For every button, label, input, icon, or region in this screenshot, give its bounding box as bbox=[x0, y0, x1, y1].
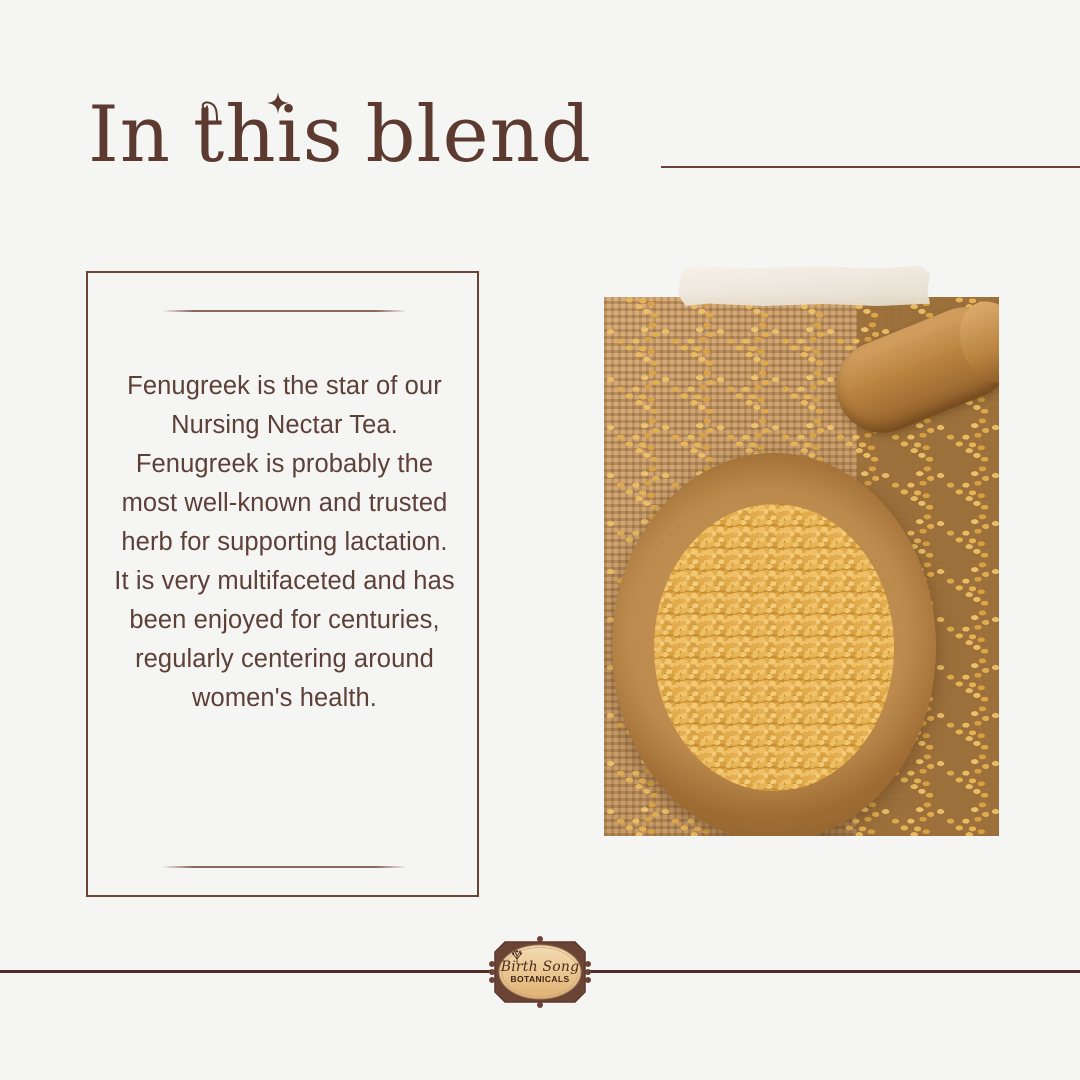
body-paragraph: Fenugreek is the star of our Nursing Nec… bbox=[112, 367, 457, 718]
title-part-second: this bbox=[193, 96, 344, 174]
photo-fenugreek-seeds bbox=[654, 504, 894, 791]
brand-logo[interactable]: Birth Song BOTANICALS bbox=[487, 934, 593, 1010]
title-part-third: blend bbox=[366, 96, 592, 174]
footer-rule-left bbox=[0, 970, 502, 973]
title-horizontal-rule bbox=[661, 166, 1080, 168]
photo-mortar-bowl bbox=[612, 453, 936, 836]
paper-tape-strip bbox=[678, 266, 930, 306]
fenugreek-photo bbox=[604, 297, 999, 836]
content-card: Fenugreek is the star of our Nursing Nec… bbox=[86, 271, 479, 897]
page-title: In this blend bbox=[88, 96, 592, 174]
card-top-divider bbox=[164, 310, 405, 312]
logo-badge-shape bbox=[487, 934, 593, 1010]
footer-rule-right bbox=[578, 970, 1080, 973]
poster-canvas: In this blend Fenugreek is the star of o… bbox=[0, 0, 1080, 1080]
title-part-second-text: this bbox=[193, 90, 344, 180]
photo-mortar-interior bbox=[654, 504, 894, 791]
card-bottom-divider bbox=[164, 866, 405, 868]
title-part-first: In bbox=[88, 96, 171, 174]
photo-burlap-background bbox=[604, 297, 999, 836]
